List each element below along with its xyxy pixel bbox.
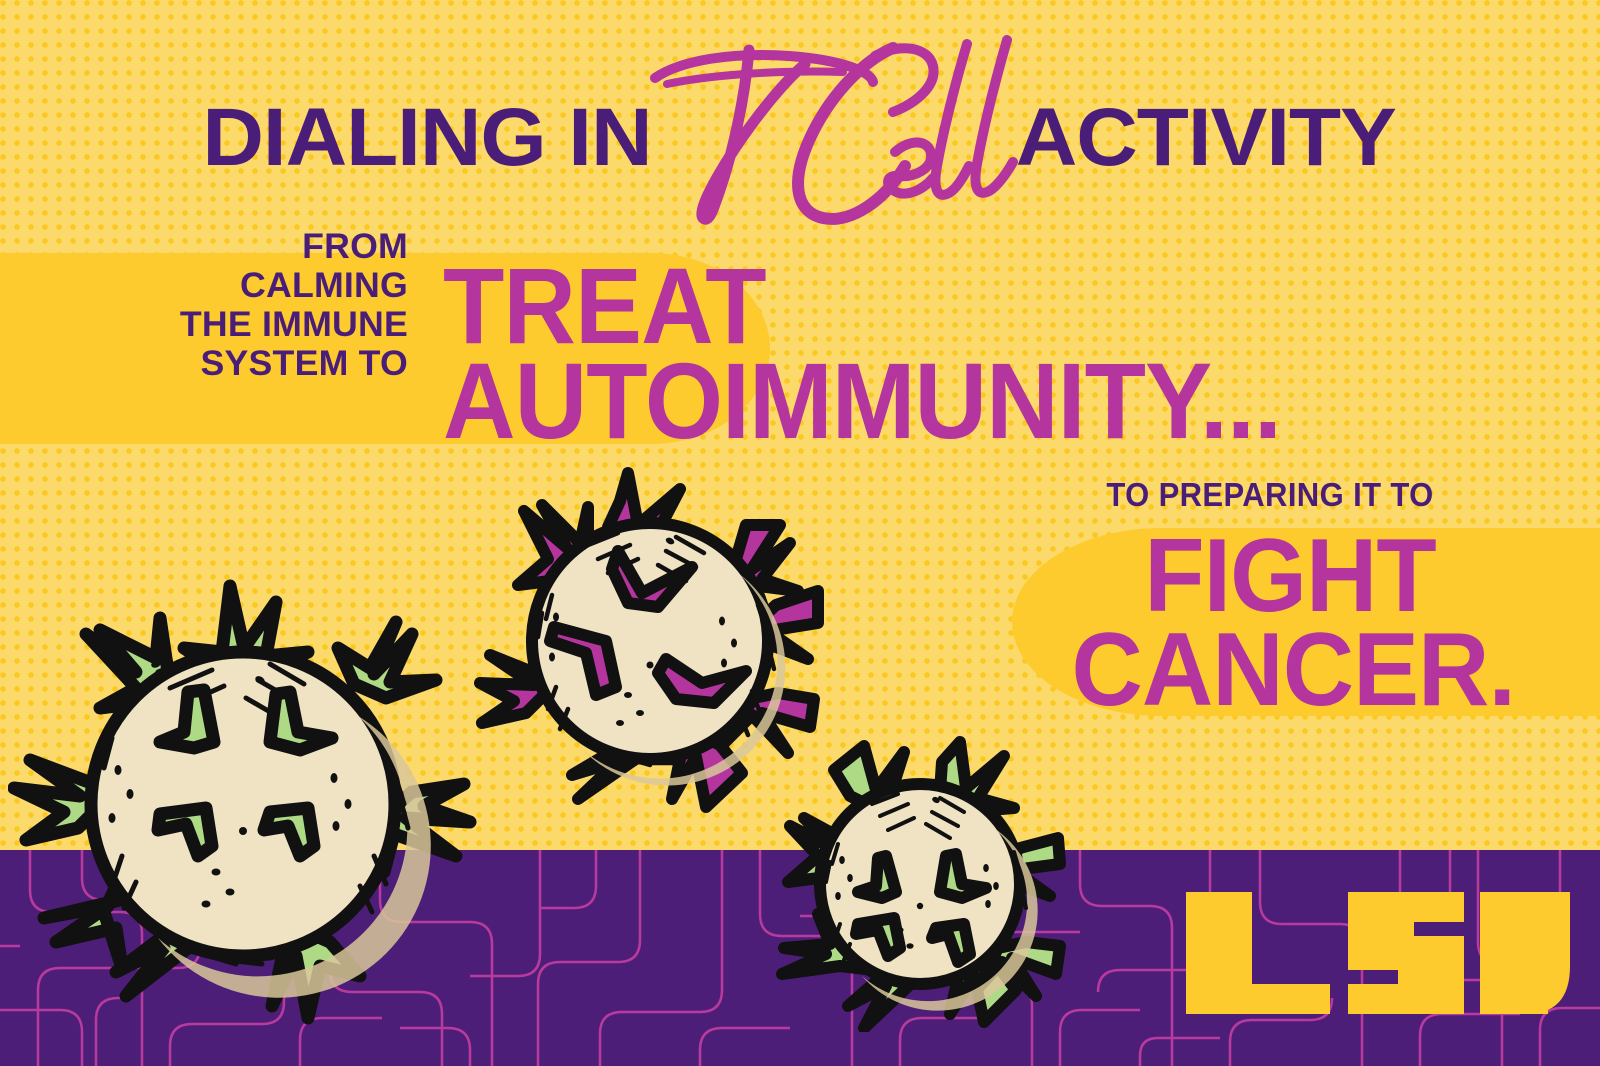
left-caption-line-3: THE IMMUNE [71, 306, 408, 345]
t-cell-large-green [8, 556, 478, 1026]
left-caption-line-4: SYSTEM TO [71, 345, 408, 384]
t-cell-script-lettering [637, 48, 1029, 228]
right-caption: TO PREPARING IT TO [1035, 476, 1505, 514]
title-post-text: ACTIVITY [1016, 91, 1396, 185]
t-cell-small-green [768, 722, 1078, 1032]
poster-canvas: DIALING IN [0, 0, 1600, 1066]
headline-left-line-2: AUTOIMMUNITY... [443, 353, 1281, 448]
headline-fight-cancer: FIGHT CANCER. [1072, 530, 1509, 717]
left-caption-line-2: CALMING [71, 267, 408, 306]
headline-treat-autoimmunity: TREAT AUTOIMMUNITY... [443, 258, 1281, 448]
headline-right-line-2: CANCER. [1072, 624, 1509, 718]
headline-right-line-1: FIGHT [1072, 530, 1509, 624]
left-caption-line-1: FROM [71, 228, 408, 267]
left-caption: FROM CALMING THE IMMUNE SYSTEM TO [71, 228, 408, 383]
title-pre-text: DIALING IN [203, 91, 652, 185]
page-title: DIALING IN [0, 48, 1600, 228]
lsu-logo[interactable]: LSU [1182, 892, 1574, 1014]
